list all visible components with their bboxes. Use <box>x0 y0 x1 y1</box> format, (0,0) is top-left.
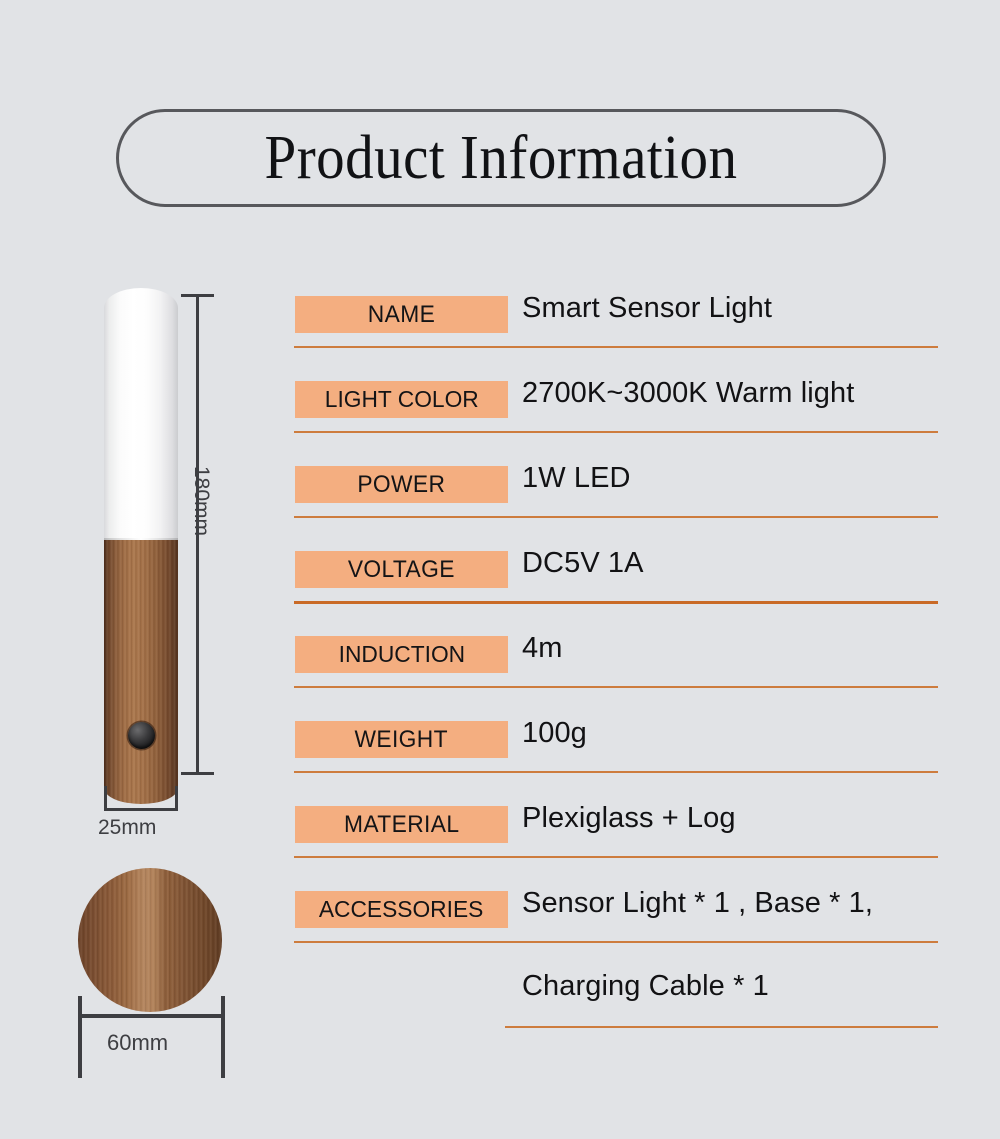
spec-label-text: NAME <box>368 301 435 329</box>
spec-label-text: WEIGHT <box>355 726 448 754</box>
spec-label-chip-light-color: LIGHT COLOR <box>295 381 508 418</box>
spec-label-text: POWER <box>357 471 445 499</box>
spec-row-divider <box>294 941 938 943</box>
height-dimension-tick-bottom <box>181 772 214 775</box>
spec-row-divider <box>505 1026 938 1028</box>
base-diameter-tick-right <box>221 996 225 1078</box>
spec-row-accessories: ACCESSORIES Sensor Light * 1 , Base * 1, <box>294 879 940 964</box>
motion-sensor-dome-icon <box>128 722 155 749</box>
sensor-light-product-image <box>104 288 178 804</box>
width-dimension-tick-right <box>175 786 178 811</box>
base-diameter-tick-left <box>78 996 82 1078</box>
spec-row-weight: WEIGHT 100g <box>294 709 940 794</box>
spec-value-material: Plexiglass + Log <box>522 802 736 835</box>
spec-row-name: NAME Smart Sensor Light <box>294 284 940 369</box>
lamp-wood-body <box>104 540 178 804</box>
spec-label-chip-weight: WEIGHT <box>295 721 508 758</box>
spec-row-light-color: LIGHT COLOR 2700K~3000K Warm light <box>294 369 940 454</box>
spec-label-text: VOLTAGE <box>348 556 455 584</box>
spec-label-text: MATERIAL <box>344 811 459 839</box>
spec-row-divider <box>294 346 938 348</box>
height-dimension-tick-top <box>181 294 214 297</box>
base-diameter-label: 60mm <box>107 1030 168 1056</box>
height-dimension-label: 180mm <box>189 466 213 536</box>
spec-row-divider <box>294 516 938 518</box>
page-title: Product Information <box>147 109 855 207</box>
spec-value-name: Smart Sensor Light <box>522 292 772 325</box>
spec-row-divider <box>294 771 938 773</box>
wood-grain-highlight <box>130 868 167 1012</box>
spec-label-text: ACCESSORIES <box>319 896 483 923</box>
width-dimension-tick-left <box>104 786 107 811</box>
spec-value-power: 1W LED <box>522 462 631 495</box>
width-dimension-label: 25mm <box>98 816 156 840</box>
spec-row-material: MATERIAL Plexiglass + Log <box>294 794 940 879</box>
product-spec-table: NAME Smart Sensor Light LIGHT COLOR 2700… <box>294 284 940 1049</box>
spec-label-text: LIGHT COLOR <box>325 386 479 413</box>
spec-label-chip-power: POWER <box>295 466 508 503</box>
spec-value-accessories-continued: Charging Cable * 1 <box>522 970 769 1003</box>
spec-value-induction: 4m <box>522 632 563 665</box>
spec-row-divider <box>294 431 938 433</box>
spec-label-chip-induction: INDUCTION <box>295 636 508 673</box>
spec-value-accessories: Sensor Light * 1 , Base * 1, <box>522 887 873 920</box>
spec-row-voltage: VOLTAGE DC5V 1A <box>294 539 940 624</box>
spec-label-chip-voltage: VOLTAGE <box>295 551 508 588</box>
product-illustration: 180mm 25mm 60mm <box>60 270 280 1090</box>
wood-base-top-view <box>78 868 222 1012</box>
spec-value-voltage: DC5V 1A <box>522 547 644 580</box>
lamp-diffuser-shade <box>104 288 178 542</box>
spec-label-chip-material: MATERIAL <box>295 806 508 843</box>
spec-value-light-color: 2700K~3000K Warm light <box>522 377 854 410</box>
spec-label-text: INDUCTION <box>338 641 465 668</box>
spec-row-accessories-continued: Charging Cable * 1 <box>294 964 940 1049</box>
spec-row-divider <box>294 686 938 688</box>
spec-row-divider <box>294 601 938 604</box>
spec-value-weight: 100g <box>522 717 587 750</box>
spec-label-chip-accessories: ACCESSORIES <box>295 891 508 928</box>
spec-row-divider <box>294 856 938 858</box>
spec-row-induction: INDUCTION 4m <box>294 624 940 709</box>
base-diameter-dimension-line <box>78 1014 225 1018</box>
width-dimension-line <box>104 808 178 811</box>
spec-label-chip-name: NAME <box>295 296 508 333</box>
spec-row-power: POWER 1W LED <box>294 454 940 539</box>
